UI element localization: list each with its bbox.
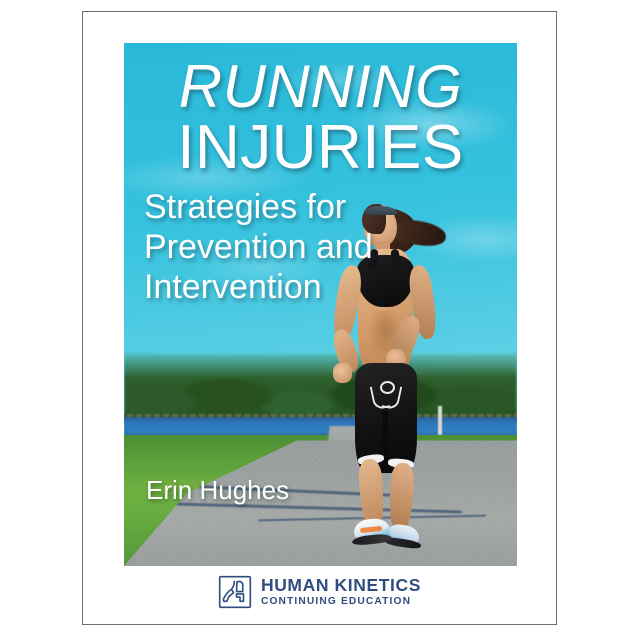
cover-title-line-2: INJURIES: [124, 115, 517, 181]
publisher-wordmark: HUMAN KINETICS CONTINUING EDUCATION: [261, 577, 421, 607]
cover-title-line-1: RUNNING: [124, 55, 517, 119]
runner-drawstring-knot: [380, 381, 395, 394]
runner-calf-right: [388, 462, 414, 529]
book-cover-image: RUNNING INJURIES Strategies for Preventi…: [0, 0, 640, 640]
publisher-logo: HUMAN KINETICS CONTINUING EDUCATION: [82, 568, 557, 616]
running-figure-logo-icon: [218, 575, 252, 609]
runner-hand-left: [333, 363, 352, 383]
cover-photo: RUNNING INJURIES Strategies for Preventi…: [124, 43, 517, 566]
cover-author-name: Erin Hughes: [146, 475, 289, 505]
publisher-name: HUMAN KINETICS: [261, 577, 421, 595]
cover-subtitle: Strategies for Prevention and Interventi…: [144, 187, 374, 307]
publisher-tagline: CONTINUING EDUCATION: [261, 597, 421, 607]
